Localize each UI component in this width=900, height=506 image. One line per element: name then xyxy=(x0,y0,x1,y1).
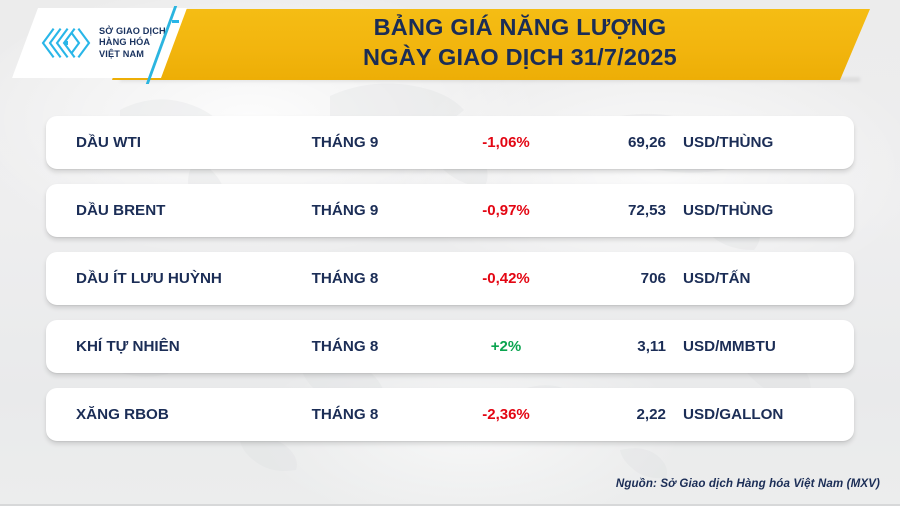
table-row: DẦU BRENT THÁNG 9 -0,97% 72,53 USD/THÙNG xyxy=(46,184,854,237)
price-table: DẦU WTI THÁNG 9 -1,06% 69,26 USD/THÙNG D… xyxy=(46,116,854,456)
mxv-chevron-logo-mark xyxy=(40,26,92,60)
price-value: 69,26 xyxy=(586,116,666,169)
price-value: 2,22 xyxy=(586,388,666,441)
contract-month: THÁNG 9 xyxy=(285,116,405,169)
page-header: SỞ GIAO DỊCH HÀNG HÓA VIỆT NAM BẢNG GIÁ … xyxy=(0,0,900,92)
change-percent: -0,97% xyxy=(446,184,566,237)
commodity-name: XĂNG RBOB xyxy=(76,388,169,441)
commodity-name: DẦU WTI xyxy=(76,116,141,169)
contract-month: THÁNG 8 xyxy=(285,320,405,373)
change-percent: -1,06% xyxy=(446,116,566,169)
change-percent: -0,42% xyxy=(446,252,566,305)
source-note: Nguồn: Sở Giao dịch Hàng hóa Việt Nam (M… xyxy=(616,477,880,490)
commodity-name: DẦU ÍT LƯU HUỲNH xyxy=(76,252,222,305)
change-percent: -2,36% xyxy=(446,388,566,441)
change-percent: +2% xyxy=(446,320,566,373)
commodity-name: KHÍ TỰ NHIÊN xyxy=(76,320,180,373)
logo-line-2: HÀNG HÓA xyxy=(99,37,166,49)
table-row: XĂNG RBOB THÁNG 8 -2,36% 2,22 USD/GALLON xyxy=(46,388,854,441)
price-value: 72,53 xyxy=(586,184,666,237)
table-row: DẦU ÍT LƯU HUỲNH THÁNG 8 -0,42% 706 USD/… xyxy=(46,252,854,305)
table-row: DẦU WTI THÁNG 9 -1,06% 69,26 USD/THÙNG xyxy=(46,116,854,169)
price-unit: USD/THÙNG xyxy=(683,116,773,169)
table-row: KHÍ TỰ NHIÊN THÁNG 8 +2% 3,11 USD/MMBTU xyxy=(46,320,854,373)
contract-month: THÁNG 8 xyxy=(285,252,405,305)
page-title: BẢNG GIÁ NĂNG LƯỢNG NGÀY GIAO DỊCH 31/7/… xyxy=(210,12,830,72)
contract-month: THÁNG 9 xyxy=(285,184,405,237)
logo-tick-mark xyxy=(172,20,179,23)
price-value: 3,11 xyxy=(586,320,666,373)
commodity-name: DẦU BRENT xyxy=(76,184,165,237)
energy-price-board: SỞ GIAO DỊCH HÀNG HÓA VIỆT NAM BẢNG GIÁ … xyxy=(0,0,900,506)
title-line-2: NGÀY GIAO DỊCH 31/7/2025 xyxy=(210,42,830,72)
price-unit: USD/THÙNG xyxy=(683,184,773,237)
price-unit: USD/TẤN xyxy=(683,252,751,305)
contract-month: THÁNG 8 xyxy=(285,388,405,441)
price-unit: USD/MMBTU xyxy=(683,320,776,373)
price-unit: USD/GALLON xyxy=(683,388,783,441)
title-line-1: BẢNG GIÁ NĂNG LƯỢNG xyxy=(210,12,830,42)
price-value: 706 xyxy=(586,252,666,305)
logo-line-1: SỞ GIAO DỊCH xyxy=(99,26,166,38)
